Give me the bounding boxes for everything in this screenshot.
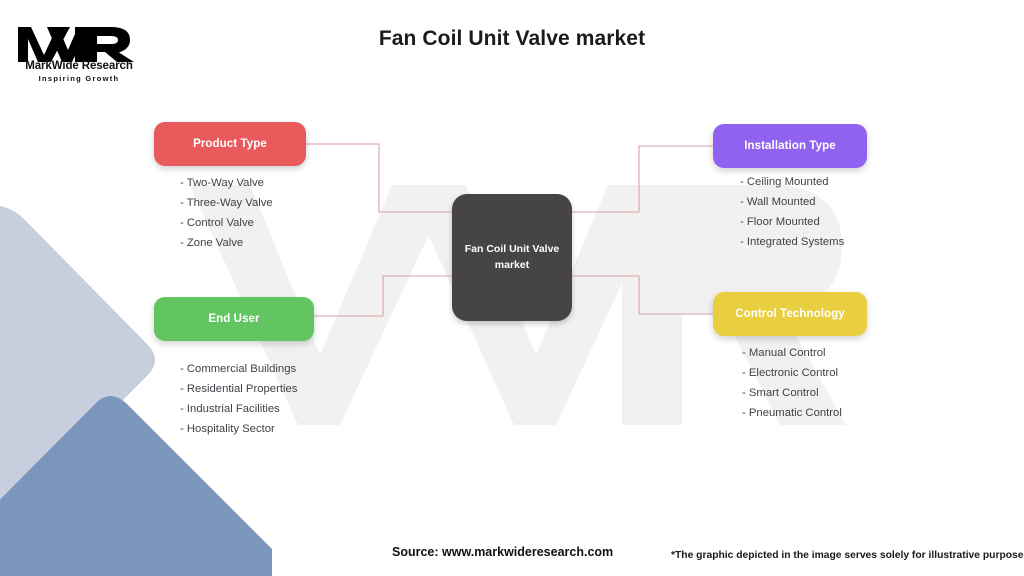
branch-heading-control-technology[interactable]: Control Technology <box>713 292 867 336</box>
branch-items-control-technology: - Manual Control - Electronic Control - … <box>742 343 842 423</box>
list-item: - Industrial Facilities <box>180 399 297 419</box>
disclaimer-note: *The graphic depicted in the image serve… <box>671 550 1024 561</box>
list-item: - Two-Way Valve <box>180 173 273 193</box>
list-item: - Zone Valve <box>180 233 273 253</box>
branch-heading-installation-type[interactable]: Installation Type <box>713 124 867 168</box>
list-item: - Three-Way Valve <box>180 193 273 213</box>
branch-items-installation-type: - Ceiling Mounted - Wall Mounted - Floor… <box>740 172 844 252</box>
list-item: - Control Valve <box>180 213 273 233</box>
logo-name: MarkWide Research <box>16 60 142 72</box>
list-item: - Pneumatic Control <box>742 403 842 423</box>
logo-tagline: Inspiring Growth <box>16 74 142 83</box>
list-item: - Commercial Buildings <box>180 359 297 379</box>
center-node[interactable]: Fan Coil Unit Valve market <box>452 194 572 321</box>
infographic-canvas: MarkWide Research Inspiring Growth Fan C… <box>0 0 1024 576</box>
connector-end-user <box>314 276 456 316</box>
branch-heading-end-user[interactable]: End User <box>154 297 314 341</box>
list-item: - Hospitality Sector <box>180 419 297 439</box>
list-item: - Electronic Control <box>742 363 842 383</box>
list-item: - Ceiling Mounted <box>740 172 844 192</box>
branch-items-product-type: - Two-Way Valve - Three-Way Valve - Cont… <box>180 173 273 253</box>
list-item: - Manual Control <box>742 343 842 363</box>
source-label: Source: www.markwideresearch.com <box>392 545 613 559</box>
list-item: - Integrated Systems <box>740 232 844 252</box>
connector-installation-type <box>568 146 713 212</box>
branch-heading-product-type[interactable]: Product Type <box>154 122 306 166</box>
connector-product-type <box>306 144 456 212</box>
list-item: - Wall Mounted <box>740 192 844 212</box>
list-item: - Smart Control <box>742 383 842 403</box>
page-title: Fan Coil Unit Valve market <box>0 27 1024 51</box>
list-item: - Residential Properties <box>180 379 297 399</box>
deco-shape-light <box>0 205 155 517</box>
connector-control-technology <box>568 276 713 314</box>
branch-items-end-user: - Commercial Buildings - Residential Pro… <box>180 359 297 439</box>
list-item: - Floor Mounted <box>740 212 844 232</box>
